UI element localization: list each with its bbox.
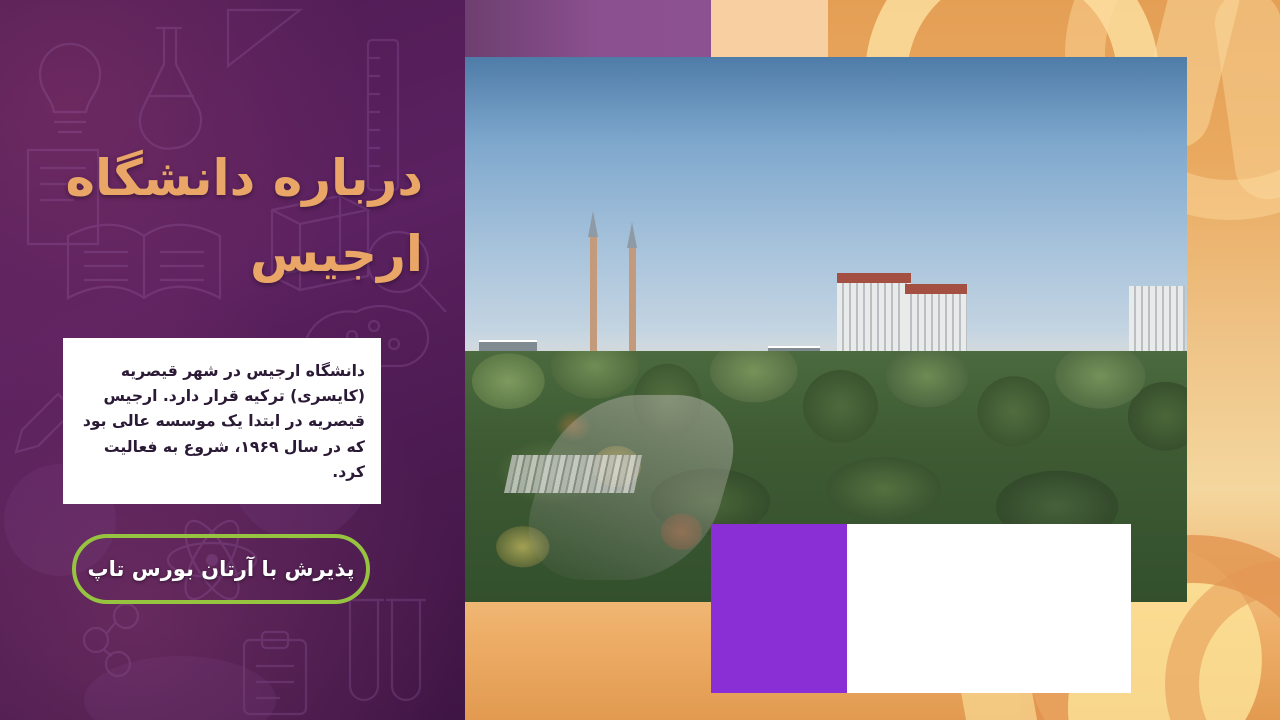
top-band-peach [711, 0, 828, 58]
about-paragraph: دانشگاه ارجیس در شهر قیصریه (کایسری) ترک… [79, 359, 365, 485]
page-title: درباره دانشگاه ارجیس [33, 140, 423, 292]
top-band-purple [465, 0, 711, 58]
test-tube-icon [344, 600, 426, 700]
admission-cta-button[interactable]: پذیرش با آرتان بورس تاپ [72, 534, 370, 604]
campus-aerial-video[interactable] [465, 57, 1187, 602]
flask-icon [140, 28, 201, 149]
white-card[interactable] [847, 524, 1131, 693]
video-tower-roof [905, 284, 967, 294]
about-text-card: دانشگاه ارجیس در شهر قیصریه (کایسری) ترک… [63, 338, 381, 504]
admission-cta-label: پذیرش با آرتان بورس تاپ [88, 557, 355, 581]
triangle-ruler-icon [228, 10, 300, 66]
left-info-panel: درباره دانشگاه ارجیس دانشگاه ارجیس در شه… [0, 0, 465, 720]
lightbulb-icon [40, 44, 100, 132]
video-parking-lot [504, 455, 642, 493]
top-band-orange [828, 0, 1280, 58]
video-tower-roof [837, 273, 911, 283]
slide-canvas: درباره دانشگاه ارجیس دانشگاه ارجیس در شه… [0, 0, 1280, 720]
purple-card[interactable] [711, 524, 847, 693]
